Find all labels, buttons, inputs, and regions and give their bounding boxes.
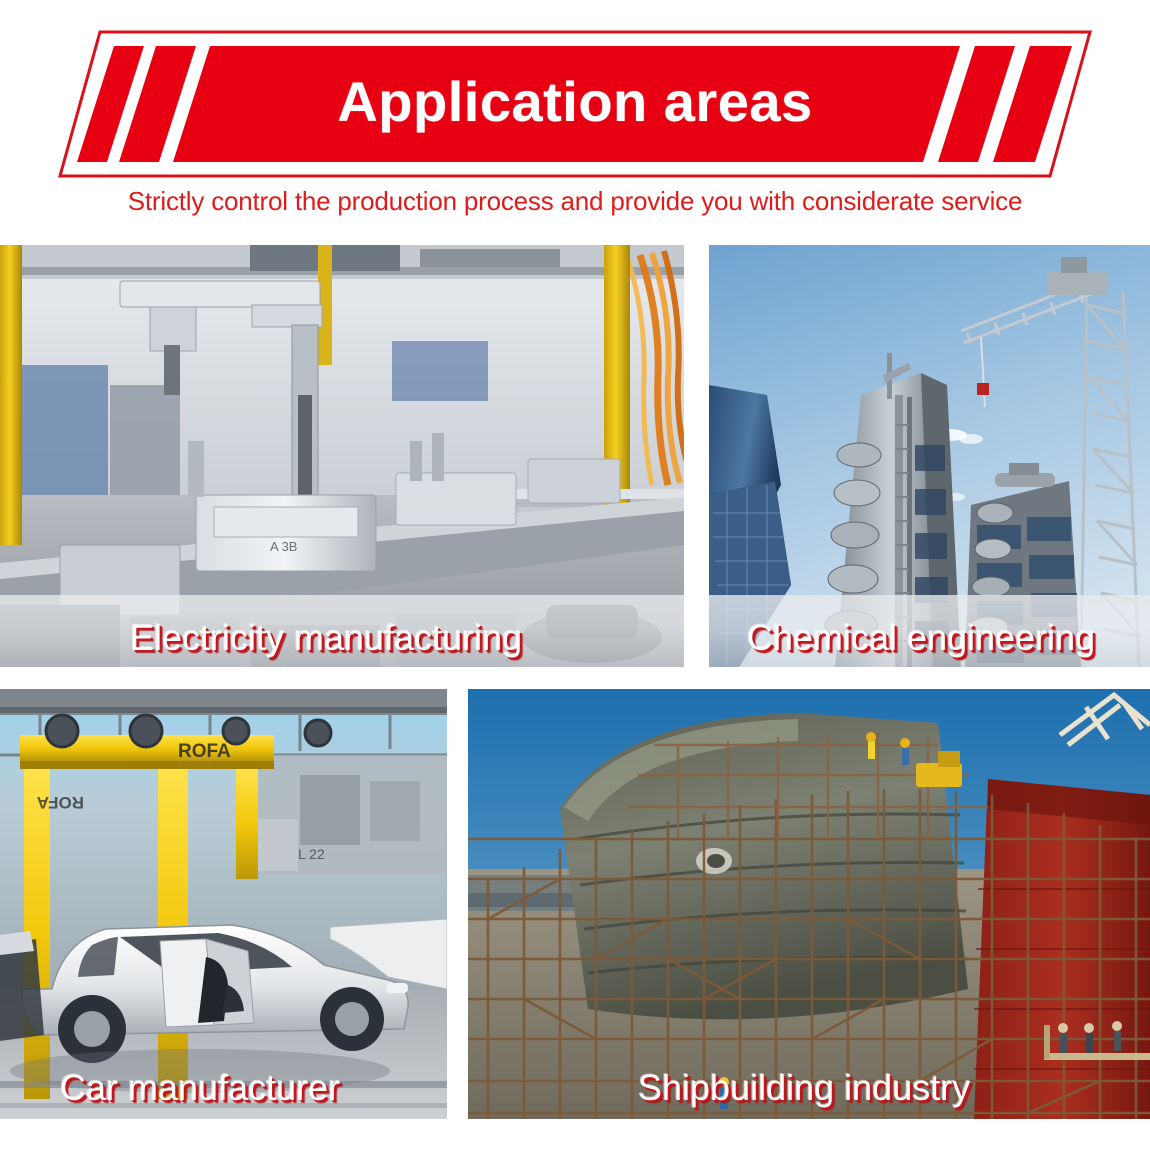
caption-chemical-engineering: Chemical engineering xyxy=(747,619,1095,657)
caption-car-manufacturer: Car manufacturer xyxy=(60,1069,340,1107)
chemical-engineering-photo xyxy=(709,245,1150,667)
red-hull-block xyxy=(974,779,1150,1119)
page-title: Application areas xyxy=(0,28,1150,180)
gallery-cell-chemical[interactable]: Chemical engineering xyxy=(709,245,1150,667)
subtitle: Strictly control the production process … xyxy=(0,186,1150,217)
gallery-cell-car[interactable]: L 22 ROFA ROFA xyxy=(0,689,447,1119)
electricity-manufacturing-photo: A 3B xyxy=(0,245,684,667)
caption-electricity-manufacturing: Electricity manufacturing xyxy=(130,619,522,657)
gallery-row-top: A 3B Electricity manufacturing xyxy=(0,245,1150,667)
banner: Application areas xyxy=(0,28,1150,180)
caption-shipbuilding-industry: Shipbuilding industry xyxy=(638,1069,970,1107)
svg-text:ROFA: ROFA xyxy=(37,793,84,812)
shipbuilding-industry-photo xyxy=(468,689,1150,1119)
car-manufacturer-photo: L 22 ROFA ROFA xyxy=(0,689,447,1119)
svg-text:ROFA: ROFA xyxy=(178,741,231,762)
svg-text:A 3B: A 3B xyxy=(270,539,297,554)
gallery-cell-ship[interactable]: Shipbuilding industry xyxy=(468,689,1150,1119)
application-areas-page: Application areas Strictly control the p… xyxy=(0,0,1150,1164)
gallery-row-bottom: L 22 ROFA ROFA xyxy=(0,689,1150,1119)
svg-text:L 22: L 22 xyxy=(298,846,325,862)
gallery-cell-electricity[interactable]: A 3B Electricity manufacturing xyxy=(0,245,684,667)
yellow-post xyxy=(0,245,22,545)
